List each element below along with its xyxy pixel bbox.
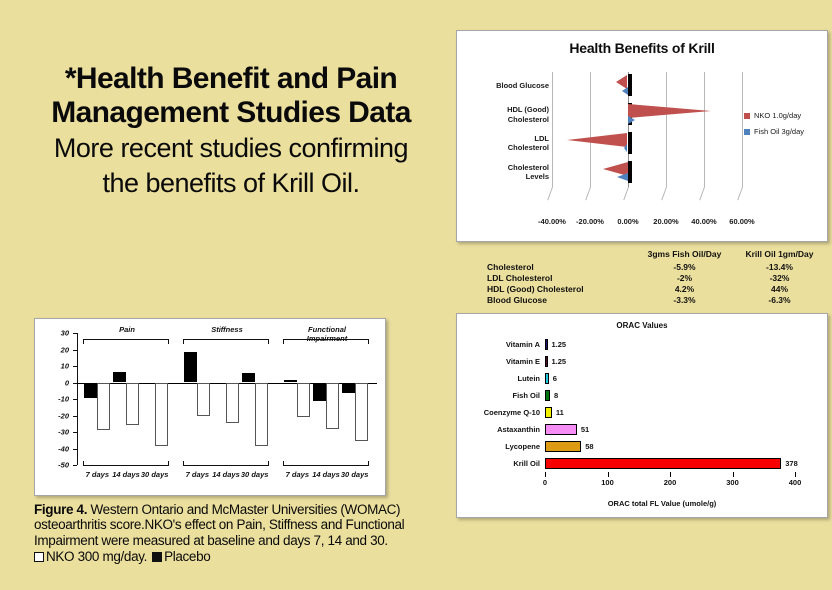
womac-y-tick-label: 20 (35, 345, 69, 354)
womac-y-tick-label: -20 (35, 411, 69, 420)
health-benefits-chart-title: Health Benefits of Krill (457, 31, 827, 56)
womac-bar (126, 383, 139, 425)
axis-slant-0 (623, 187, 629, 200)
legend-item: NKO 1.0g/day (744, 111, 804, 120)
womac-y-tick (73, 416, 77, 417)
axis-slant-40 (699, 187, 705, 200)
womac-y-axis-line (77, 333, 78, 465)
orac-tick-mark (670, 472, 671, 477)
orac-x-axis-label: ORAC total FL Value (umole/g) (497, 499, 827, 508)
womac-y-tick-label: 0 (35, 378, 69, 387)
orac-bar (545, 407, 552, 418)
health-benefits-data-table: 3gms Fish Oil/Day Krill Oil 1gm/Day Chol… (487, 249, 827, 305)
health-benefits-bar (622, 87, 628, 95)
table-cell-value: -2% (637, 272, 732, 283)
orac-category-label: Astaxanthin (457, 425, 545, 434)
gridline-20 (666, 72, 667, 187)
orac-tick-mark (795, 472, 796, 477)
health-benefits-chart-panel: Health Benefits of Krill Blood GlucoseHD… (456, 30, 828, 242)
orac-bar-row: Fish Oil8 (457, 387, 827, 404)
womac-bar (284, 380, 297, 382)
slide-canvas: *Health Benefit and Pain Management Stud… (0, 0, 832, 590)
orac-bar-row: Coenzyme Q-1011 (457, 404, 827, 421)
womac-bar (226, 383, 239, 423)
page-subtitle-line-2: the benefits of Krill Oil. (16, 168, 446, 199)
orac-x-tick-label: 0 (543, 478, 547, 487)
womac-group-label: Pain (119, 325, 135, 334)
womac-day-label: 30 days (241, 470, 269, 479)
womac-plot-area: 3020100-10-20-30-40-50Pain7 days14 days3… (35, 319, 387, 497)
womac-bar (313, 383, 326, 402)
health-benefits-bar (628, 116, 635, 124)
legend-swatch-icon (744, 129, 750, 135)
womac-group-label: Stiffness (211, 325, 243, 334)
axis-slant--20 (585, 187, 591, 200)
orac-chart-title: ORAC Values (457, 314, 827, 330)
womac-group-bracket-bottom (183, 461, 269, 466)
health-benefits-legend: NKO 1.0g/dayFish Oil 3g/day (744, 111, 804, 143)
table-row: Cholesterol-5.9%-13.4% (487, 261, 827, 272)
table-cell-value: -5.9% (637, 261, 732, 272)
orac-value-label: 1.25 (548, 357, 567, 366)
womac-y-tick (73, 399, 77, 400)
table-header-row: 3gms Fish Oil/Day Krill Oil 1gm/Day (487, 249, 827, 261)
womac-day-label: 14 days (212, 470, 240, 479)
table-cell-label: LDL Cholesterol (487, 272, 637, 283)
womac-y-tick-label: 30 (35, 329, 69, 338)
orac-bar (545, 424, 577, 435)
orac-value-label: 58 (581, 442, 593, 451)
page-subtitle-line-1: More recent studies confirming (16, 133, 446, 164)
womac-group-label: Functional Impairment (297, 325, 357, 343)
table-row: Blood Glucose-3.3%-6.3% (487, 294, 827, 305)
womac-y-tick-label: 10 (35, 362, 69, 371)
table-cell-value: 4.2% (637, 283, 732, 294)
legend-swatch-icon (744, 113, 750, 119)
orac-x-tick-label: 400 (789, 478, 802, 487)
health-benefits-x-tick-label: 0.00% (617, 217, 638, 226)
health-benefits-axis-block (628, 161, 632, 183)
womac-day-label: 14 days (112, 470, 140, 479)
womac-day-label: 7 days (286, 470, 309, 479)
womac-y-tick-label: -50 (35, 461, 69, 470)
health-benefits-x-tick-label: -20.00% (576, 217, 604, 226)
health-benefits-x-tick-label: 60.00% (729, 217, 754, 226)
womac-bar (326, 383, 339, 429)
table-row: LDL Cholesterol-2%-32% (487, 272, 827, 283)
orac-bar-row: Lutein6 (457, 370, 827, 387)
orac-category-label: Coenzyme Q-10 (457, 408, 545, 417)
orac-x-tick-label: 200 (664, 478, 677, 487)
legend-label: NKO 1.0g/day (754, 111, 801, 120)
table-cell-value: -6.3% (732, 294, 827, 305)
orac-bar-rows: Vitamin A1.25Vitamin E1.25Lutein6Fish Oi… (457, 336, 827, 472)
gridline-60 (742, 72, 743, 187)
health-benefits-category-label: CholesterolLevels (457, 163, 549, 182)
caption-text: Western Ontario and McMaster Universitie… (34, 502, 404, 548)
orac-value-label: 6 (549, 374, 557, 383)
orac-tick-mark (608, 472, 609, 477)
orac-bar-row: Astaxanthin51 (457, 421, 827, 438)
orac-value-label: 8 (550, 391, 558, 400)
table-cell-value: -13.4% (732, 261, 827, 272)
health-benefits-category-label: LDLCholesterol (457, 134, 549, 153)
womac-chart-panel: 3020100-10-20-30-40-50Pain7 days14 days3… (34, 318, 386, 496)
orac-x-tick-label: 300 (726, 478, 739, 487)
gridline-40 (704, 72, 705, 187)
womac-bar (342, 383, 355, 394)
orac-bar (545, 458, 781, 469)
womac-y-tick (73, 350, 77, 351)
orac-x-axis: 0100200300400 (545, 472, 795, 498)
health-benefits-bar (624, 144, 627, 152)
womac-bar (255, 383, 268, 447)
health-benefits-bar (617, 173, 628, 181)
caption-figure-label: Figure 4. (34, 502, 87, 517)
womac-bar (84, 383, 97, 399)
orac-category-label: Vitamin A (457, 340, 545, 349)
womac-y-tick (73, 432, 77, 433)
womac-bar (155, 383, 168, 447)
table-col-header-2: Krill Oil 1gm/Day (732, 249, 827, 261)
womac-bar (242, 373, 255, 382)
orac-category-label: Krill Oil (457, 459, 545, 468)
orac-category-label: Lycopene (457, 442, 545, 451)
womac-bar (97, 383, 110, 431)
health-benefits-bar (628, 104, 711, 118)
womac-y-tick-label: -40 (35, 444, 69, 453)
womac-day-label: 7 days (86, 470, 109, 479)
table-row: HDL (Good) Cholesterol4.2%44% (487, 283, 827, 294)
page-title-line-2: Management Studies Data (16, 96, 446, 130)
womac-bar (297, 383, 310, 418)
womac-day-label: 7 days (186, 470, 209, 479)
womac-day-label: 30 days (141, 470, 169, 479)
orac-values-chart-panel: ORAC Values Vitamin A1.25Vitamin E1.25Lu… (456, 313, 828, 518)
health-benefits-category-label: Blood Glucose (457, 81, 549, 90)
axis-slant--40 (547, 187, 553, 200)
health-benefits-x-tick-label: 40.00% (691, 217, 716, 226)
orac-bar-row: Vitamin A1.25 (457, 336, 827, 353)
table-cell-value: -3.3% (637, 294, 732, 305)
orac-bar (545, 441, 581, 452)
womac-group-bracket-bottom (283, 461, 369, 466)
figure-caption: Figure 4. Western Ontario and McMaster U… (34, 502, 426, 565)
health-benefits-x-tick-label: -40.00% (538, 217, 566, 226)
womac-y-tick (73, 333, 77, 334)
womac-y-tick (73, 366, 77, 367)
orac-category-label: Fish Oil (457, 391, 545, 400)
womac-day-label: 30 days (341, 470, 369, 479)
caption-legend-line: NKO 300 mg/day.Placebo (34, 549, 426, 564)
caption-legend-nko: NKO 300 mg/day. (46, 549, 147, 564)
womac-group-bracket (83, 339, 169, 344)
health-benefits-bar (567, 133, 627, 147)
orac-tick-mark (545, 472, 546, 477)
orac-category-label: Vitamin E (457, 357, 545, 366)
orac-x-tick-label: 100 (601, 478, 614, 487)
womac-bar (184, 352, 197, 382)
table-col-header-0 (487, 249, 637, 261)
caption-legend-placebo: Placebo (164, 549, 210, 564)
womac-group-bracket-bottom (83, 461, 169, 466)
orac-bar-row: Lycopene58 (457, 438, 827, 455)
orac-value-label: 11 (552, 408, 564, 417)
health-benefits-axis-block (628, 74, 632, 96)
orac-bar-row: Vitamin E1.25 (457, 353, 827, 370)
legend-label: Fish Oil 3g/day (754, 127, 804, 136)
table-cell-label: Cholesterol (487, 261, 637, 272)
orac-category-label: Lutein (457, 374, 545, 383)
orac-bar-row: Krill Oil378 (457, 455, 827, 472)
title-block: *Health Benefit and Pain Management Stud… (16, 62, 446, 199)
health-benefits-x-tick-label: 20.00% (653, 217, 678, 226)
filled-square-icon (152, 552, 162, 562)
orac-value-label: 51 (577, 425, 589, 434)
axis-slant-60 (737, 187, 743, 200)
open-square-icon (34, 552, 44, 562)
womac-y-tick (73, 449, 77, 450)
orac-value-label: 1.25 (548, 340, 567, 349)
womac-y-tick-label: -30 (35, 428, 69, 437)
page-title-line-1: *Health Benefit and Pain (16, 62, 446, 96)
womac-bar (197, 383, 210, 417)
gridline--20 (590, 72, 591, 187)
orac-value-label: 378 (781, 459, 798, 468)
table-cell-label: Blood Glucose (487, 294, 637, 305)
gridline--40 (552, 72, 553, 187)
orac-tick-mark (733, 472, 734, 477)
table-cell-value: -32% (732, 272, 827, 283)
womac-y-tick-label: -10 (35, 395, 69, 404)
legend-item: Fish Oil 3g/day (744, 127, 804, 136)
health-benefits-axis-block (628, 132, 632, 154)
womac-bar (113, 372, 126, 383)
table-cell-label: HDL (Good) Cholesterol (487, 283, 637, 294)
womac-day-label: 14 days (312, 470, 340, 479)
table-cell-value: 44% (732, 283, 827, 294)
womac-y-tick (73, 465, 77, 466)
table-col-header-1: 3gms Fish Oil/Day (637, 249, 732, 261)
womac-bar (355, 383, 368, 442)
axis-slant-20 (661, 187, 667, 200)
womac-group-bracket (183, 339, 269, 344)
health-benefits-category-label: HDL (Good)Cholesterol (457, 105, 549, 124)
